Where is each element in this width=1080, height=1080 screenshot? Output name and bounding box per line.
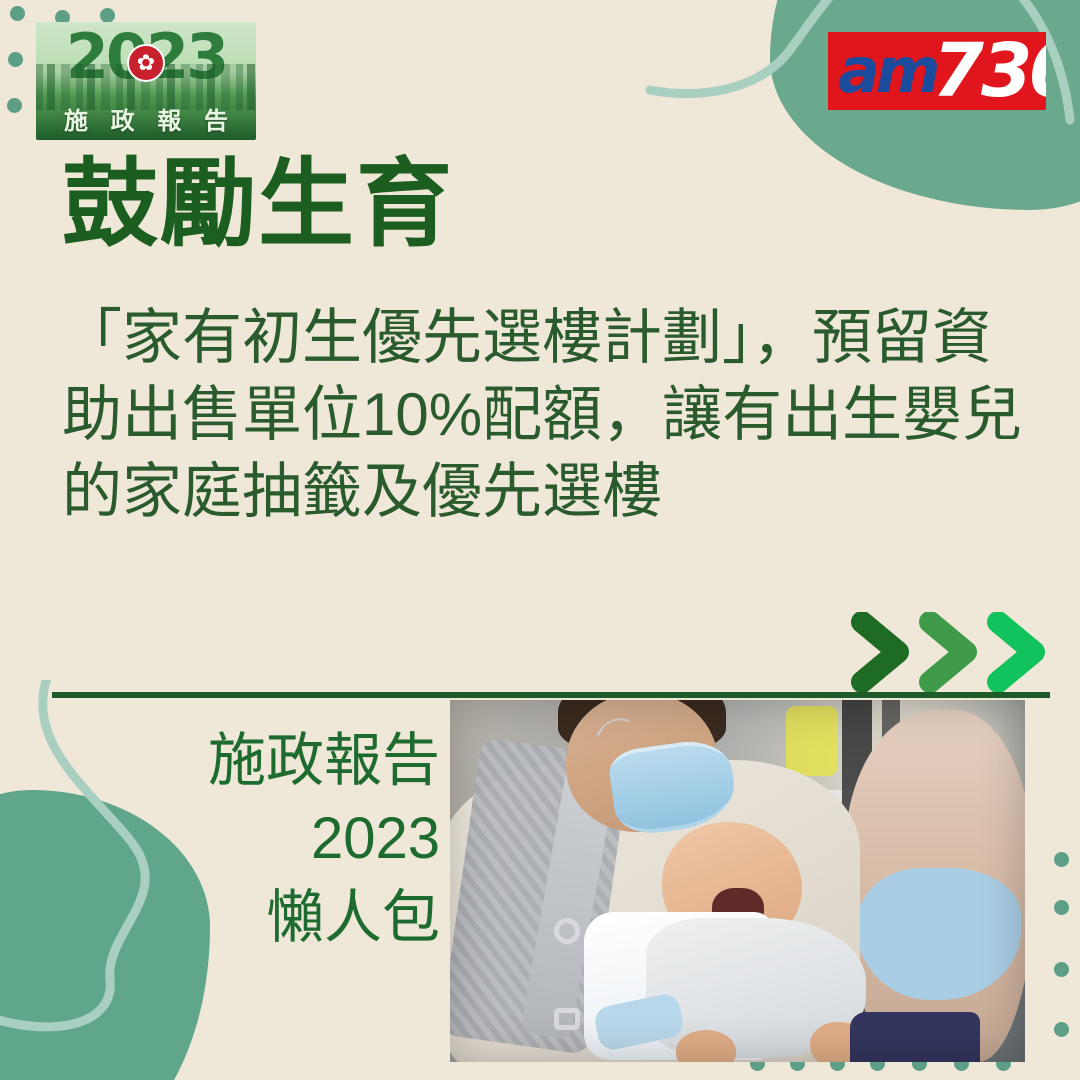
body-line-3: 的家庭抽籤及優先選樓 <box>62 454 1037 531</box>
body-copy: 「家有初生優先選樓計劃」，預留資 助出售單位10%配額，讓有出生嬰兒 的家庭抽籤… <box>62 300 1037 530</box>
horizontal-divider <box>52 692 1050 698</box>
chevron-right-icon-3 <box>986 612 1048 692</box>
bauhinia-glyph: ✿ <box>137 52 155 74</box>
page-title: 鼓勵生育 <box>62 152 454 258</box>
hong-kong-bauhinia-emblem-icon: ✿ <box>127 44 165 82</box>
decor-dot <box>8 52 23 67</box>
caption-line-1: 施政報告 <box>120 722 440 800</box>
policy-address-logo: 2023 ✿ 施 政 報 告 <box>36 22 256 140</box>
am730-number: 730 <box>932 34 1046 108</box>
footer-caption: 施政報告 2023 懶人包 <box>120 722 440 957</box>
am730-logo[interactable]: am 730 <box>828 32 1046 110</box>
decor-dot <box>1054 962 1069 977</box>
decor-dot <box>1054 1022 1069 1037</box>
decor-dot <box>1054 852 1069 867</box>
photo-vignette <box>450 700 1025 1062</box>
body-line-1: 「家有初生優先選樓計劃」，預留資 <box>62 300 1037 377</box>
chevron-arrows-group <box>850 612 1048 692</box>
infographic-canvas: 2023 ✿ 施 政 報 告 am 730 鼓勵生育 「家有初生優先選樓計劃」，… <box>0 0 1080 1080</box>
decor-dot <box>7 98 22 113</box>
am730-prefix: am <box>828 40 936 102</box>
chevron-right-icon-1 <box>850 612 912 692</box>
mother-with-baby-photo <box>450 700 1025 1062</box>
caption-line-2: 2023 <box>120 800 440 878</box>
decor-dot <box>1054 900 1069 915</box>
body-line-2: 助出售單位10%配額，讓有出生嬰兒 <box>62 377 1037 454</box>
decor-dot <box>10 6 25 21</box>
caption-line-3: 懶人包 <box>120 879 440 957</box>
chevron-right-icon-2 <box>918 612 980 692</box>
policy-logo-subtitle: 施 政 報 告 <box>36 101 256 136</box>
decor-dot <box>100 8 115 23</box>
